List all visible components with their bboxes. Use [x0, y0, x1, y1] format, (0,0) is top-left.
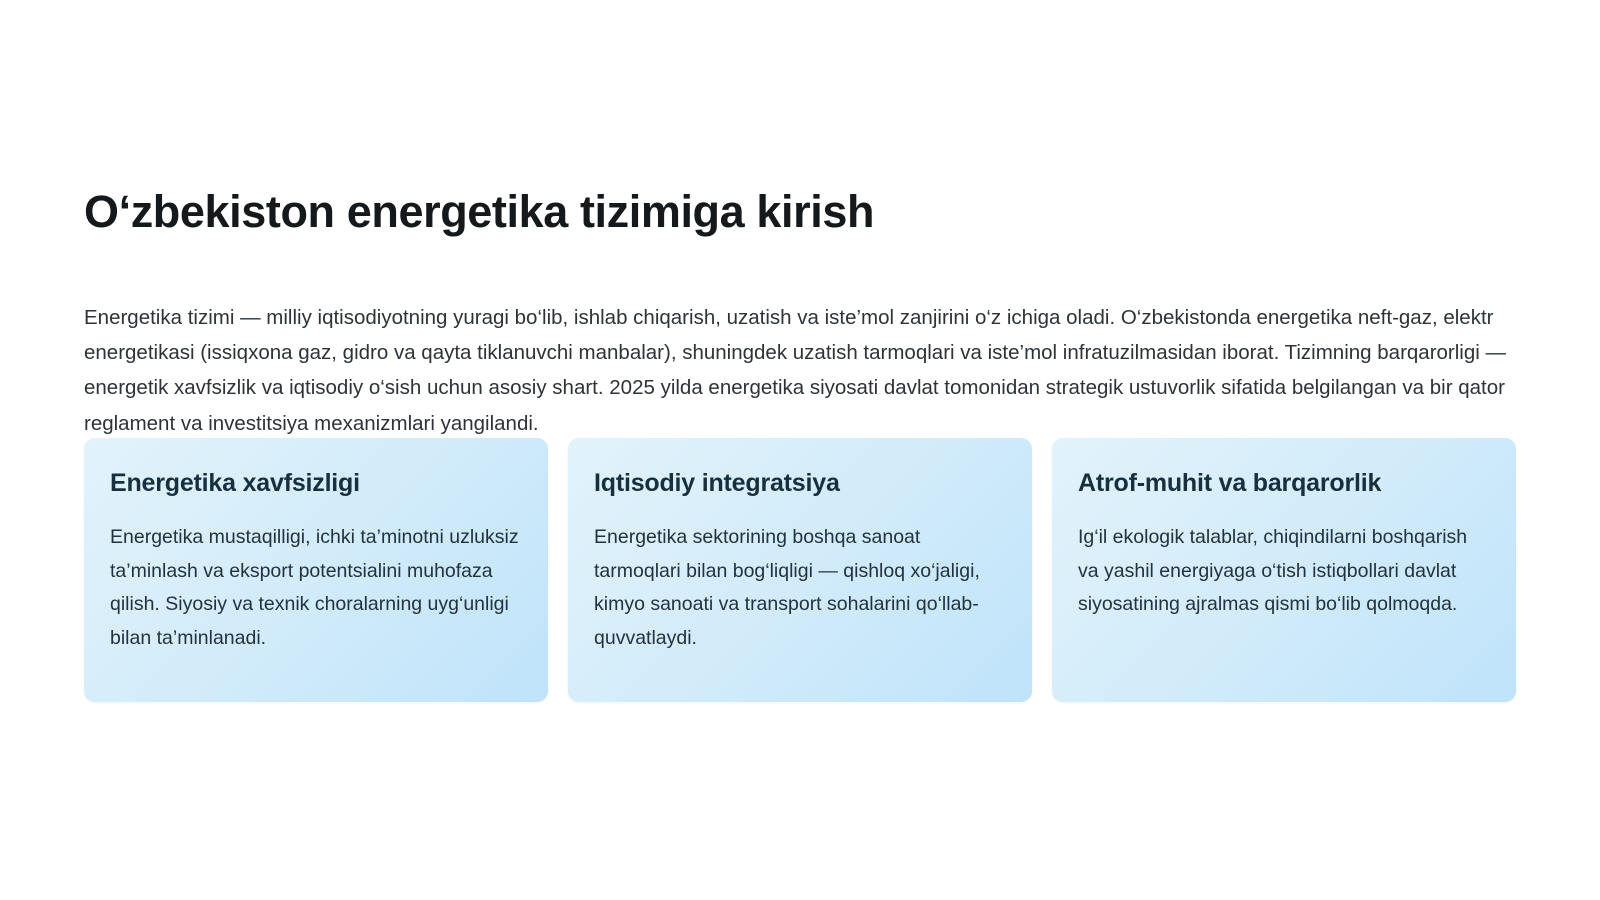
feature-card-grid: Energetika xavfsizligi Energetika mustaq…	[84, 438, 1516, 702]
feature-card-environment-sustainability: Atrof-muhit va barqarorlik Ig‘il ekologi…	[1052, 438, 1516, 702]
feature-card-energy-security: Energetika xavfsizligi Energetika mustaq…	[84, 438, 548, 702]
card-title: Iqtisodiy integratsiya	[594, 468, 1006, 498]
intro-paragraph: Energetika tizimi — milliy iqtisodiyotni…	[84, 300, 1516, 441]
card-title: Atrof-muhit va barqarorlik	[1078, 468, 1490, 498]
card-body: Energetika mustaqilligi, ichki ta’minotn…	[110, 521, 522, 656]
card-body: Energetika sektorining boshqa sanoat tar…	[594, 521, 1006, 656]
feature-card-economic-integration: Iqtisodiy integratsiya Energetika sektor…	[568, 438, 1032, 702]
card-title: Energetika xavfsizligi	[110, 468, 522, 498]
page-title: O‘zbekiston energetika tizimiga kirish	[84, 0, 1516, 238]
document-page: O‘zbekiston energetika tizimiga kirish E…	[0, 0, 1600, 900]
card-body: Ig‘il ekologik talablar, chiqindilarni b…	[1078, 521, 1490, 622]
